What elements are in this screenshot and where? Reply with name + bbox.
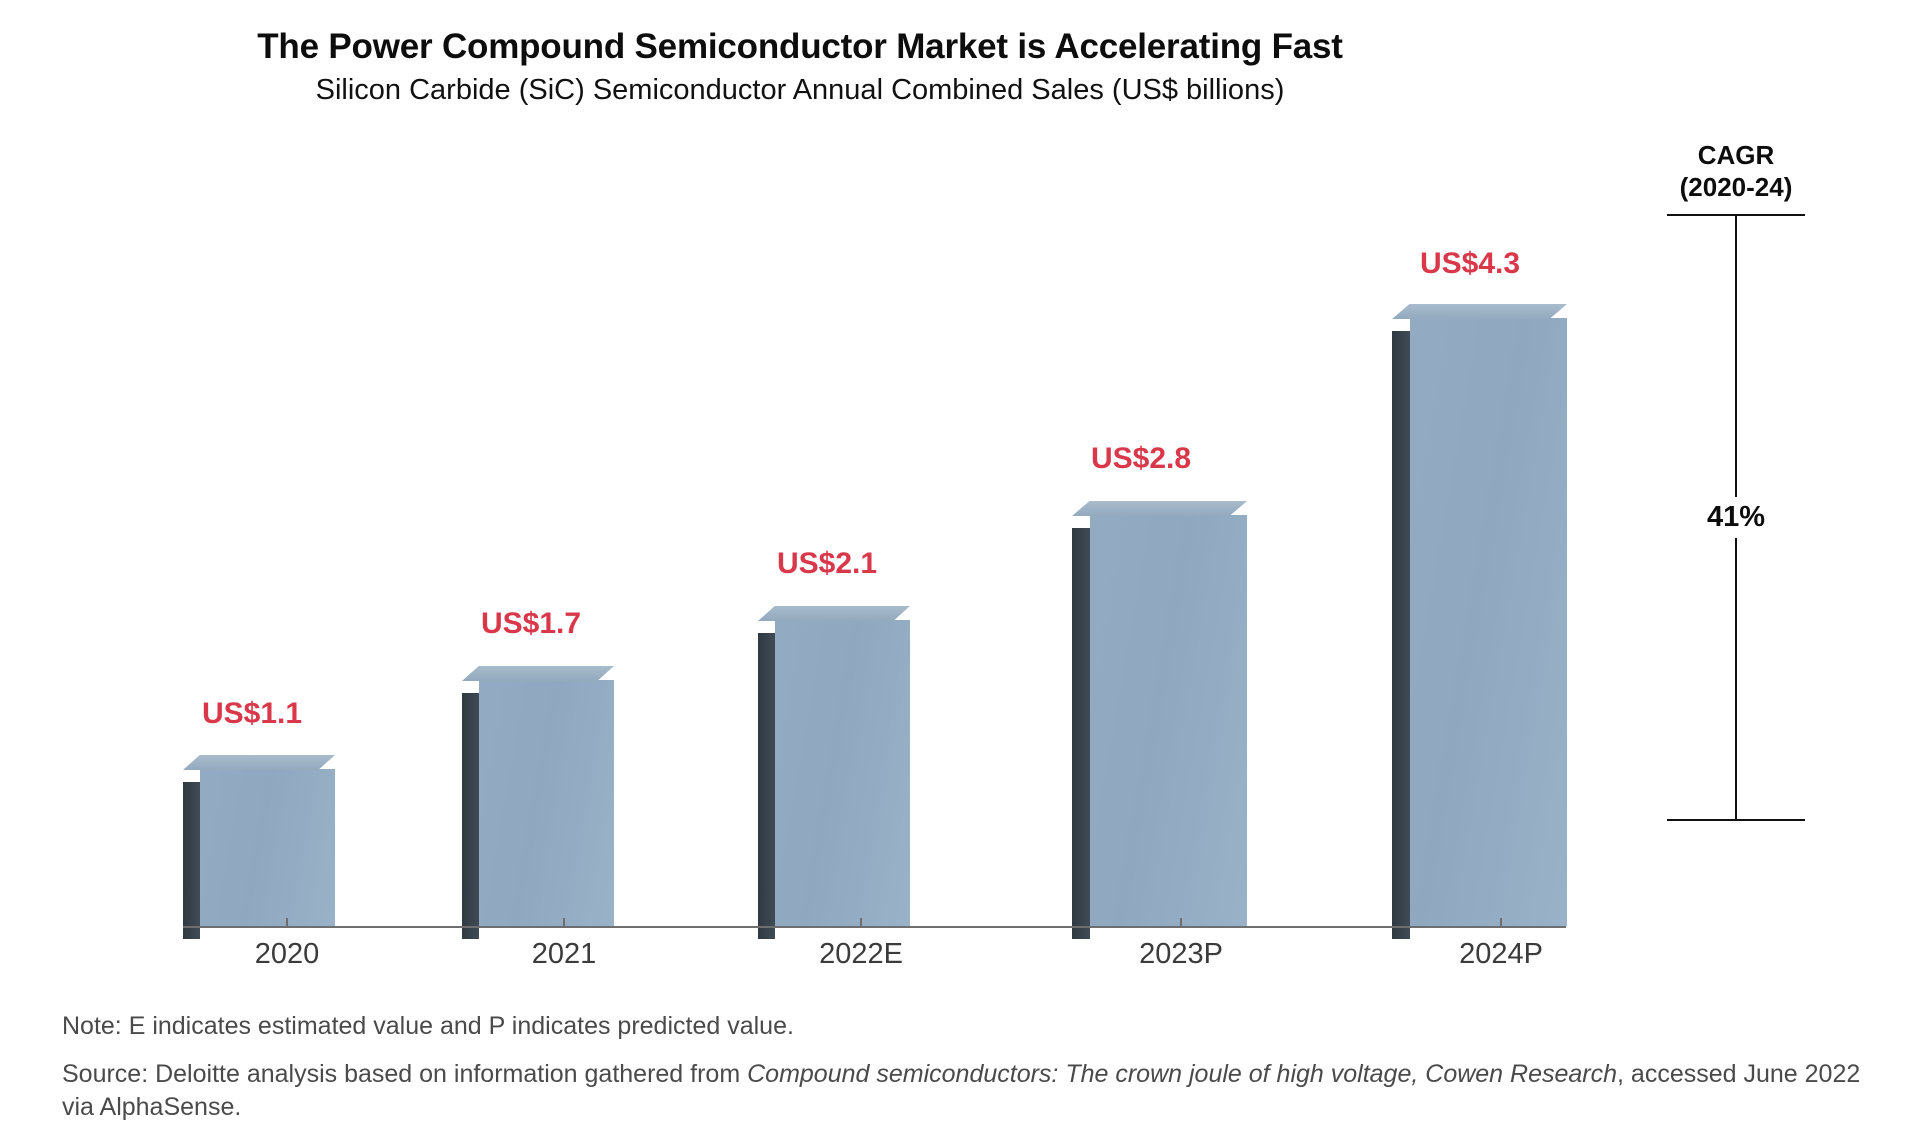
bar-side-face <box>758 633 775 939</box>
bar-top-face <box>183 755 335 770</box>
bar-2022e[interactable] <box>758 620 910 926</box>
bar-front-face <box>1090 515 1247 926</box>
bar-top-face <box>1072 501 1247 516</box>
source-citation-title: Compound semiconductors: The crown joule… <box>747 1060 1617 1088</box>
bar-2020[interactable] <box>183 769 335 926</box>
x-axis-tick-2023p <box>1180 918 1182 927</box>
bar-top-face <box>1392 304 1567 319</box>
bar-side-face <box>183 782 200 939</box>
title-block: The Power Compound Semiconductor Market … <box>0 26 1600 108</box>
bar-2024p[interactable] <box>1392 318 1567 926</box>
chart-canvas: The Power Compound Semiconductor Market … <box>0 0 1920 1141</box>
plot-area: US$1.1 US$1.7 US$2.1 <box>0 120 1920 980</box>
source-text: Source: Deloitte analysis based on infor… <box>62 1058 1872 1125</box>
cagr-period-label: (2020-24) <box>1636 172 1836 204</box>
bar-side-face <box>1392 331 1410 939</box>
x-axis-label-2024p: 2024P <box>1381 938 1621 971</box>
bar-2021[interactable] <box>462 680 614 926</box>
bar-2023p[interactable] <box>1072 515 1247 926</box>
cagr-value: 41% <box>1636 497 1836 538</box>
x-axis-tick-2024p <box>1500 918 1502 927</box>
bar-side-face <box>462 693 479 939</box>
chart-subtitle: Silicon Carbide (SiC) Semiconductor Annu… <box>0 73 1600 108</box>
footnotes: Note: E indicates estimated value and P … <box>62 1010 1872 1125</box>
cagr-heading-label: CAGR <box>1636 140 1836 172</box>
x-axis-label-2023p: 2023P <box>1061 938 1301 971</box>
x-axis-tick-2021 <box>563 918 565 927</box>
bar-front-face <box>200 769 335 926</box>
bar-value-2023p: US$2.8 <box>1021 442 1261 476</box>
bar-value-2020: US$1.1 <box>132 697 372 731</box>
bar-front-face <box>479 680 614 926</box>
cagr-heading: CAGR (2020-24) <box>1636 140 1836 203</box>
x-axis-tick-2022e <box>860 918 862 927</box>
source-prefix: Source: Deloitte analysis based on infor… <box>62 1060 747 1088</box>
bar-top-face <box>462 666 614 681</box>
chart-title: The Power Compound Semiconductor Market … <box>0 26 1600 67</box>
note-text: Note: E indicates estimated value and P … <box>62 1010 1872 1044</box>
x-axis-line <box>183 926 1566 928</box>
bar-value-2024p: US$4.3 <box>1350 247 1590 281</box>
bar-front-face <box>775 620 910 926</box>
x-axis-label-2022e: 2022E <box>741 938 981 971</box>
bar-value-2021: US$1.7 <box>411 607 651 641</box>
x-axis-tick-2020 <box>286 918 288 927</box>
cagr-bracket-bottom-cap <box>1667 819 1805 821</box>
bar-value-2022e: US$2.1 <box>707 547 947 581</box>
bar-side-face <box>1072 528 1090 939</box>
bar-front-face <box>1410 318 1567 926</box>
bar-top-face <box>758 606 910 621</box>
cagr-annotation: CAGR (2020-24) 41% <box>1636 140 1896 880</box>
x-axis-label-2021: 2021 <box>444 938 684 971</box>
x-axis-label-2020: 2020 <box>167 938 407 971</box>
